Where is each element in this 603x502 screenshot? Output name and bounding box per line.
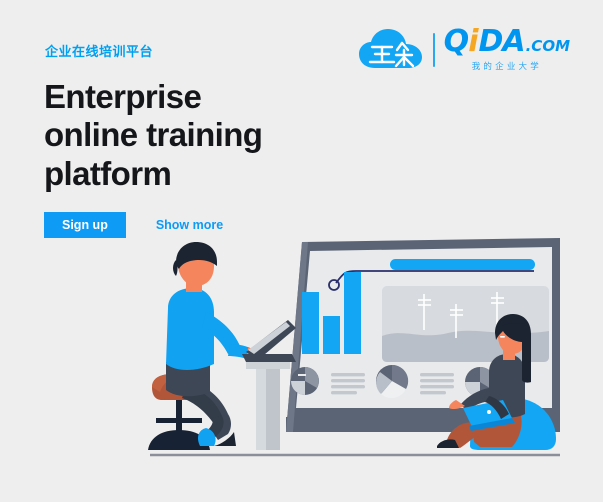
dashboard-title-bar: [390, 259, 535, 270]
hero-illustration: [0, 232, 603, 472]
promo-banner: 企业在线培训平台: [0, 0, 603, 502]
logo-letters-da: DA: [478, 27, 524, 57]
qida-cloud-logo-icon: [358, 28, 424, 72]
bar-3: [344, 272, 361, 354]
logo-wordmark: Q i DA .COM 我的企业大学: [444, 27, 570, 72]
logo-letter-q: Q: [444, 27, 469, 57]
kicker-text: 企业在线培训平台: [45, 41, 153, 60]
stool-footrest: [156, 418, 202, 423]
pie-widget-1: [291, 367, 319, 395]
logo-letter-i: i: [468, 27, 478, 57]
bar-1: [302, 292, 319, 354]
podium-desk: [246, 354, 290, 450]
bar-2: [323, 316, 340, 354]
qida-logo[interactable]: Q i DA .COM 我的企业大学: [358, 27, 570, 72]
logo-com-suffix: .COM: [526, 39, 570, 54]
page-title: Enterprise online training platform: [44, 78, 262, 193]
logo-tagline: 我的企业大学: [444, 60, 570, 72]
page-title-line-3: platform: [44, 155, 262, 193]
laptop-base: [242, 354, 296, 362]
logo-divider: [433, 33, 435, 67]
page-title-line-1: Enterprise: [44, 78, 262, 116]
page-title-line-2: online training: [44, 116, 262, 154]
show-more-link[interactable]: Show more: [156, 218, 223, 232]
